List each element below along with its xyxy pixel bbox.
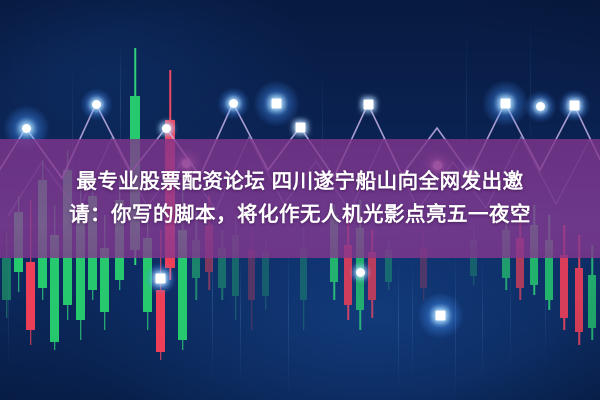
chart-node-circle	[540, 106, 541, 107]
chart-node-square	[300, 127, 301, 128]
node-marker	[92, 100, 101, 109]
node-marker	[569, 100, 579, 110]
chart-node-circle	[360, 272, 361, 273]
node-marker	[536, 102, 545, 111]
chart-node-square	[574, 105, 575, 106]
chart-node-circle	[96, 104, 97, 105]
headline-line-1: 最专业股票配资论坛 四川遂宁船山向全网发出邀	[76, 169, 523, 195]
node-marker	[356, 268, 365, 277]
chart-node-square	[440, 315, 441, 316]
headline-block: 最专业股票配资论坛 四川遂宁船山向全网发出邀 请：你写的脚本，将化作无人机光影点…	[0, 139, 600, 258]
node-marker	[229, 99, 238, 108]
node-marker	[271, 98, 281, 108]
node-marker	[363, 99, 373, 109]
node-marker	[22, 124, 31, 133]
node-marker	[295, 122, 305, 132]
chart-node-square	[368, 104, 369, 105]
chart-node-square	[160, 278, 161, 279]
chart-node-square	[276, 103, 277, 104]
banner-image: 最专业股票配资论坛 四川遂宁船山向全网发出邀 请：你写的脚本，将化作无人机光影点…	[0, 0, 600, 400]
node-marker	[500, 98, 510, 108]
chart-node-circle	[233, 103, 234, 104]
headline-line-2: 请：你写的脚本，将化作无人机光影点亮五一夜空	[69, 202, 531, 228]
node-marker	[162, 124, 171, 133]
chart-node-square	[505, 103, 506, 104]
node-marker	[155, 273, 165, 283]
chart-node-circle	[166, 128, 167, 129]
node-marker	[435, 310, 445, 320]
chart-node-circle	[26, 128, 27, 129]
